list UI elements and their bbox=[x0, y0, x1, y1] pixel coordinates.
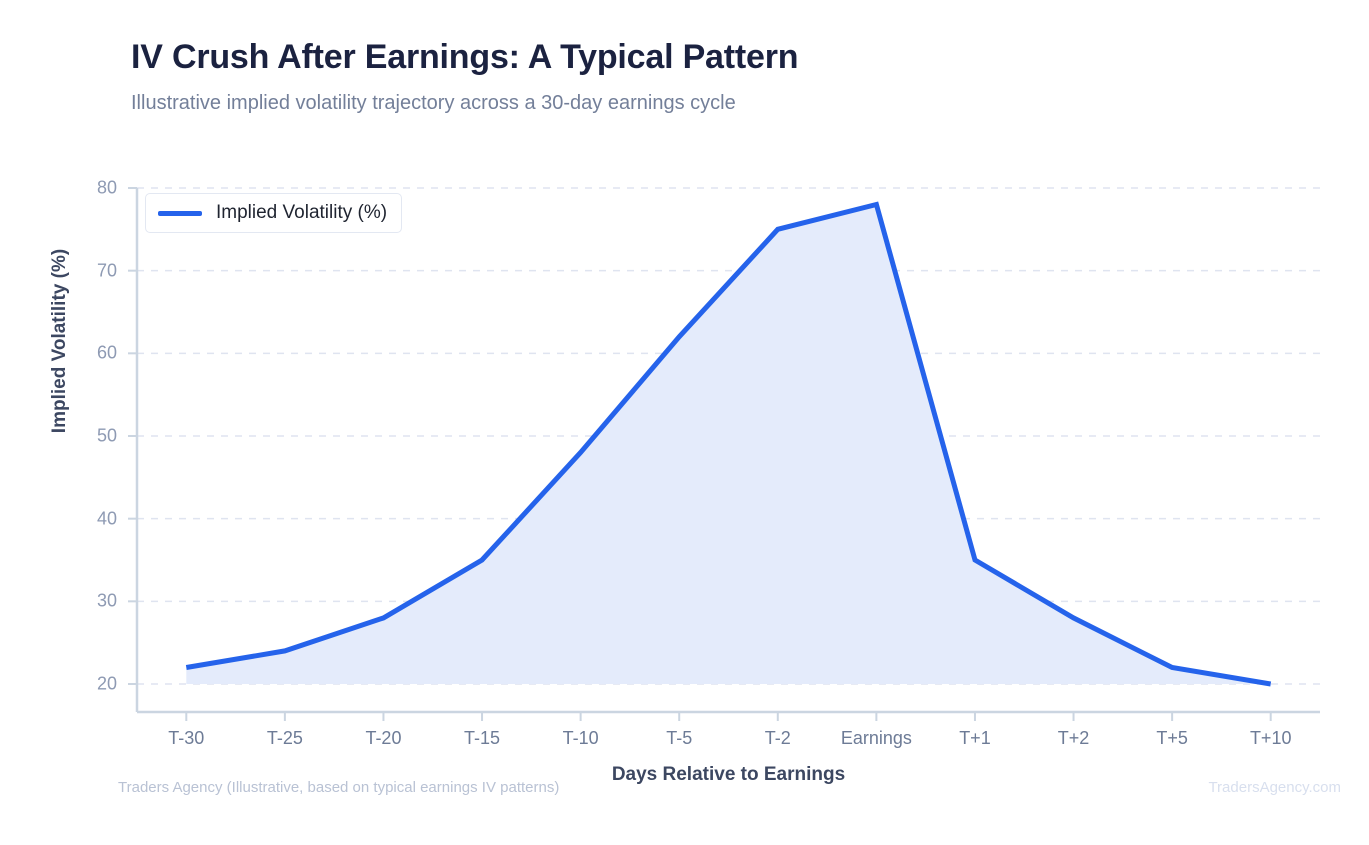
y-tick-label: 60 bbox=[71, 343, 117, 364]
x-tick-label: T-5 bbox=[666, 728, 692, 749]
y-tick-label: 40 bbox=[71, 508, 117, 529]
x-tick-label: T+10 bbox=[1250, 728, 1292, 749]
footer-watermark: TradersAgency.com bbox=[1208, 779, 1341, 796]
y-axis-title: Implied Volatility (%) bbox=[49, 221, 71, 461]
x-tick-label: T-10 bbox=[563, 728, 599, 749]
y-tick-label: 50 bbox=[71, 426, 117, 447]
x-tick-label: T-15 bbox=[464, 728, 500, 749]
y-tick-label: 70 bbox=[71, 260, 117, 281]
x-tick-label: T-30 bbox=[168, 728, 204, 749]
chart-legend[interactable]: Implied Volatility (%) bbox=[145, 193, 402, 233]
y-tick-label: 80 bbox=[71, 178, 117, 199]
legend-line-swatch bbox=[158, 211, 202, 216]
legend-label: Implied Volatility (%) bbox=[216, 202, 387, 224]
x-tick-label: T+1 bbox=[959, 728, 991, 749]
x-tick-label: T+2 bbox=[1058, 728, 1090, 749]
plot-area bbox=[0, 0, 1369, 845]
series-area-fill bbox=[186, 205, 1270, 685]
footer-attribution: Traders Agency (Illustrative, based on t… bbox=[118, 779, 559, 796]
x-tick-label: T-25 bbox=[267, 728, 303, 749]
x-tick-label: T+5 bbox=[1156, 728, 1188, 749]
y-tick-label: 30 bbox=[71, 591, 117, 612]
x-tick-label: Earnings bbox=[841, 728, 912, 749]
y-tick-label: 20 bbox=[71, 674, 117, 695]
chart-container: IV Crush After Earnings: A Typical Patte… bbox=[0, 0, 1369, 845]
x-tick-label: T-20 bbox=[365, 728, 401, 749]
x-tick-label: T-2 bbox=[765, 728, 791, 749]
